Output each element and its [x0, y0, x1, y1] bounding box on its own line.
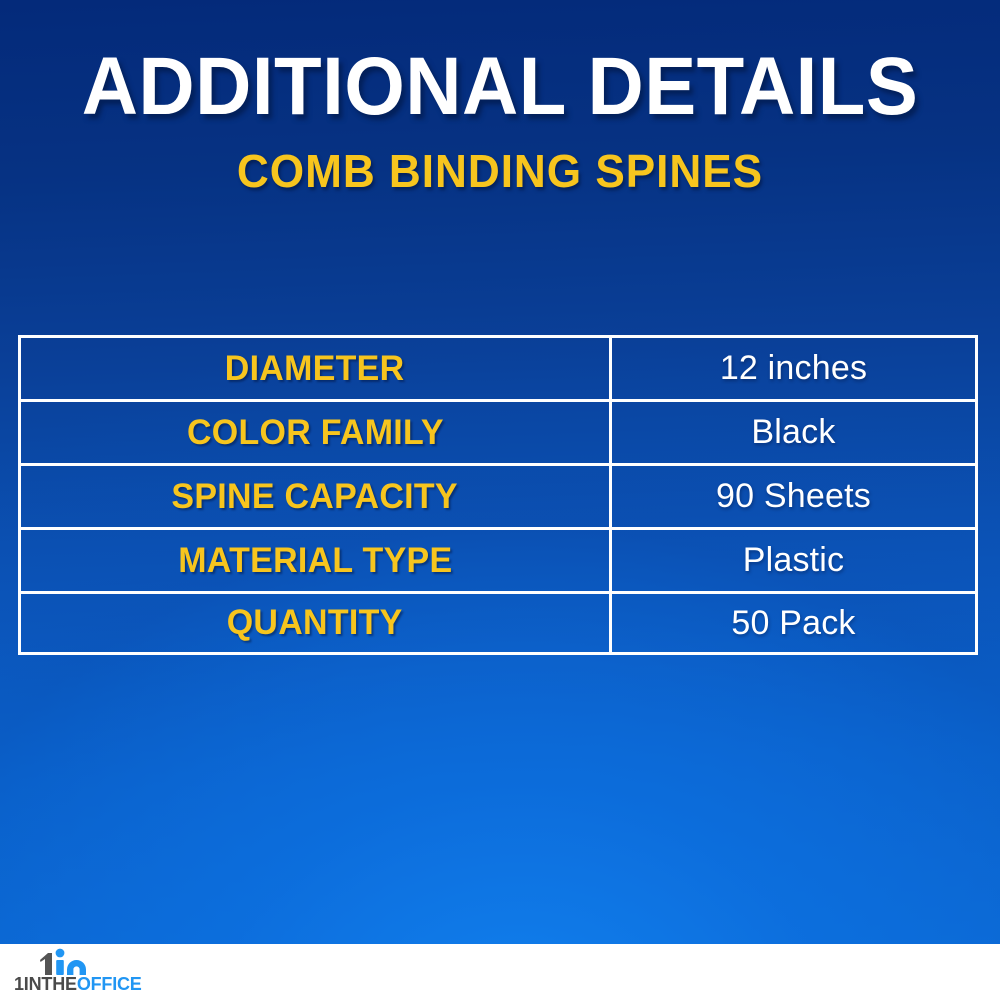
spec-value-cell: Black — [612, 402, 975, 463]
spec-value-cell: 12 inches — [612, 338, 975, 399]
specifications-table: DIAMETER 12 inches COLOR FAMILY Black SP… — [18, 335, 978, 655]
brand-wordmark-dark: 1INTHE — [14, 974, 77, 994]
table-row: MATERIAL TYPE Plastic — [18, 527, 978, 591]
spec-label-cell: SPINE CAPACITY — [21, 466, 612, 527]
footer-bar: 1INTHEOFFICE — [0, 944, 1000, 998]
table-row: DIAMETER 12 inches — [18, 335, 978, 399]
product-detail-poster: ADDITIONAL DETAILS COMB BINDING SPINES D… — [0, 0, 1000, 998]
table-row: SPINE CAPACITY 90 Sheets — [18, 463, 978, 527]
spec-label: QUANTITY — [227, 603, 403, 643]
spec-label-cell: QUANTITY — [21, 594, 612, 652]
page-subtitle: COMB BINDING SPINES — [20, 126, 980, 194]
spec-label: COLOR FAMILY — [187, 413, 444, 453]
spec-label: MATERIAL TYPE — [178, 541, 452, 581]
spec-label-cell: MATERIAL TYPE — [21, 530, 612, 591]
spec-label-cell: DIAMETER — [21, 338, 612, 399]
table-row: COLOR FAMILY Black — [18, 399, 978, 463]
brand-wordmark: 1INTHEOFFICE — [14, 975, 142, 993]
spec-value-cell: 90 Sheets — [612, 466, 975, 527]
spec-label: SPINE CAPACITY — [172, 477, 458, 517]
brand-wordmark-blue: OFFICE — [77, 974, 142, 994]
spec-value: Black — [751, 413, 835, 452]
spec-label-cell: COLOR FAMILY — [21, 402, 612, 463]
spec-value: 50 Pack — [731, 604, 855, 643]
spec-value: 12 inches — [720, 349, 867, 388]
spec-label: DIAMETER — [225, 349, 405, 389]
spec-value: Plastic — [743, 541, 845, 580]
brand-logo: 1INTHEOFFICE — [14, 948, 164, 996]
table-row: QUANTITY 50 Pack — [18, 591, 978, 655]
1intheoffice-mark-icon — [34, 948, 92, 976]
spec-value: 90 Sheets — [716, 477, 871, 516]
poster-header: ADDITIONAL DETAILS COMB BINDING SPINES — [0, 0, 1000, 194]
spec-value-cell: Plastic — [612, 530, 975, 591]
spec-value-cell: 50 Pack — [612, 594, 975, 652]
page-title: ADDITIONAL DETAILS — [25, 0, 975, 126]
